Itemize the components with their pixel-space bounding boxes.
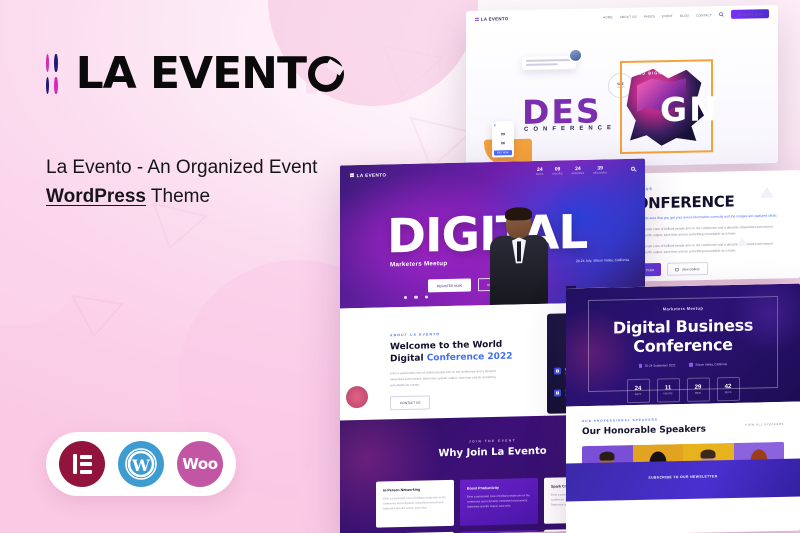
brand-wordmark-main: LA EVENT (76, 48, 306, 99)
brand-lockup: LA EVENT (46, 52, 346, 96)
view-gallery-label: View Gallery (682, 267, 700, 271)
countdown-label: HOURS (553, 172, 563, 175)
contact-us-button[interactable]: CONTACT US (390, 396, 430, 411)
newsletter-text: SUBSCRIBE TO OUR NEWSLETTER (648, 474, 717, 479)
countdown-unit: 24MINUTES (572, 165, 585, 174)
menu-item[interactable]: HOME (603, 15, 613, 19)
countdown-value: 24 (536, 166, 543, 172)
menu-item[interactable]: PAGES (644, 14, 655, 18)
location-icon (554, 367, 561, 374)
countdown-label: HOURS (663, 392, 672, 395)
ticket-number-1: 09 (492, 132, 514, 136)
woo-label: Woo (182, 455, 217, 473)
ticket-action-button[interactable]: GET NOW (494, 150, 512, 155)
brand-wordmark-o (306, 52, 346, 96)
countdown-unit: 24DAYS (536, 166, 543, 175)
tech-badges: W Woo (46, 432, 236, 496)
ticket-number-2: 06 (492, 141, 514, 145)
logo-dots-icon (46, 54, 58, 94)
poster-canvas: LA EVENT La Evento - An Organized Event … (0, 0, 800, 533)
calendar-icon (554, 389, 561, 396)
speakers-section: OUR PROFESSIONAL SPEAKERS Our Honorable … (566, 402, 800, 502)
elementor-icon (59, 441, 105, 487)
digital-hero-subtitle: Marketers Meetup (390, 260, 447, 268)
world-biggest-label: WORLD BIGGEST (626, 70, 673, 76)
search-icon[interactable] (719, 12, 724, 17)
design-title-tail: GN (660, 89, 719, 129)
decorative-triangle-icon (736, 237, 748, 246)
tagline-suffix: Theme (146, 186, 210, 207)
search-icon[interactable] (631, 167, 635, 171)
woocommerce-icon: Woo (177, 441, 223, 487)
ticket-widget[interactable]: F 09 06 GET NOW (492, 121, 514, 157)
menu-item[interactable]: ABOUT US (620, 14, 637, 18)
about-title-line1: Welcome to the World (390, 340, 502, 353)
business-hero: Marketers Meetup Digital Business Confer… (566, 284, 800, 407)
digital-hero-title: DIGITAL (387, 205, 587, 265)
digital-hero: LA EVENTO 24DAYS 09HOURS 24MINUTES 39SEC… (340, 159, 645, 309)
avatar (568, 48, 583, 63)
view-all-speakers-link[interactable]: VIEW ALL SPEAKERS (745, 422, 784, 427)
menu-item[interactable]: EVENT (662, 14, 673, 18)
brand-wordmark: LA EVENT (76, 52, 346, 96)
decorative-circle (346, 386, 368, 408)
design-logo: LA EVENTO (475, 16, 508, 22)
countdown-label: DAYS (635, 393, 642, 396)
countdown-unit: 09HOURS (553, 166, 563, 175)
intro-panel: LA EVENT La Evento - An Organized Event … (46, 52, 346, 211)
countdown-label: MINS (695, 392, 701, 395)
decorative-triangle-icon (760, 187, 774, 198)
tagline: La Evento - An Organized Event WordPress… (46, 154, 346, 211)
tagline-line-1: La Evento - An Organized Event (46, 154, 346, 183)
logo-dots-icon (475, 17, 479, 21)
menu-item[interactable]: CONTACT (696, 13, 712, 17)
why-card-title: In-Person Networking (383, 487, 447, 492)
ticket-tag: F (494, 123, 496, 127)
design-hero: SEE VIDEO DES CONFERENCE WORLD BIGGEST G… (466, 22, 778, 169)
about-title-accent: Conference 2022 (427, 352, 513, 364)
tagline-highlight: WordPress (46, 186, 146, 207)
countdown-label: MINUTES (572, 171, 585, 174)
tagline-line-2: WordPress Theme (46, 183, 346, 212)
view-gallery-button[interactable]: View Gallery (667, 262, 707, 276)
register-button[interactable]: REGISTER NOW (428, 278, 471, 292)
countdown-label: SECS (725, 391, 732, 394)
digital-logo-text: LA EVENTO (357, 172, 387, 178)
digital-logo: LA EVENTO (350, 172, 386, 178)
countdown-label: DAYS (536, 172, 543, 175)
wordpress-icon: W (118, 441, 164, 487)
conference-paragraph: Each a passionate crew of brilliant peop… (626, 224, 786, 239)
why-card[interactable]: In-Person NetworkingEnim a passionate cr… (376, 480, 454, 528)
logo-dots-icon (350, 173, 354, 177)
design-menu[interactable]: HOME ABOUT US PAGES EVENT BLOG CONTACT R… (603, 9, 769, 21)
design-mockup[interactable]: LA EVENTO HOME ABOUT US PAGES EVENT BLOG… (466, 5, 778, 169)
gallery-icon (675, 268, 679, 272)
svg-text:W: W (131, 456, 151, 475)
business-mockup[interactable]: Marketers Meetup Digital Business Confer… (566, 284, 800, 533)
hero-frame (588, 296, 778, 392)
design-logo-text: LA EVENTO (481, 16, 509, 22)
about-title-line2: Digital (390, 354, 427, 365)
why-card[interactable]: Boost ProductivityEnim a passionate crew… (460, 478, 538, 526)
conference-lead: We have made sure that you get your even… (626, 213, 786, 222)
hero-countdown: 24DAYS 09HOURS 24MINUTES 39SECONDS (536, 165, 607, 176)
decorative-triangle-icon (70, 290, 140, 350)
digital-hero-meta: 20-24 July, Silicon Valley, California (576, 258, 629, 263)
why-card-text: Enim a passionate crew of brilliant peop… (467, 493, 531, 510)
newsletter-strip: SUBSCRIBE TO OUR NEWSLETTER (566, 459, 800, 502)
countdown-label: SECONDS (593, 171, 607, 174)
conference-paragraph: Each a passionate crew of brilliant peop… (626, 241, 786, 256)
menu-item[interactable]: BLOG (680, 13, 689, 17)
why-card-title: Boost Productivity (467, 485, 531, 490)
countdown-unit: 39SECONDS (593, 165, 607, 174)
conference-actions: Buy Ticket View Gallery (626, 260, 800, 277)
decorative-triangle-icon (380, 40, 460, 110)
design-subtitle: CONFERENCE (524, 125, 616, 133)
why-card-text: Enim a passionate crew of brilliant peop… (383, 495, 447, 512)
about-paragraph: Enim a passionate crew of brilliant peop… (390, 369, 502, 389)
speaker-photo (490, 209, 548, 305)
carousel-dots[interactable] (404, 295, 428, 299)
register-button[interactable]: REGISTER NOW (731, 9, 769, 19)
